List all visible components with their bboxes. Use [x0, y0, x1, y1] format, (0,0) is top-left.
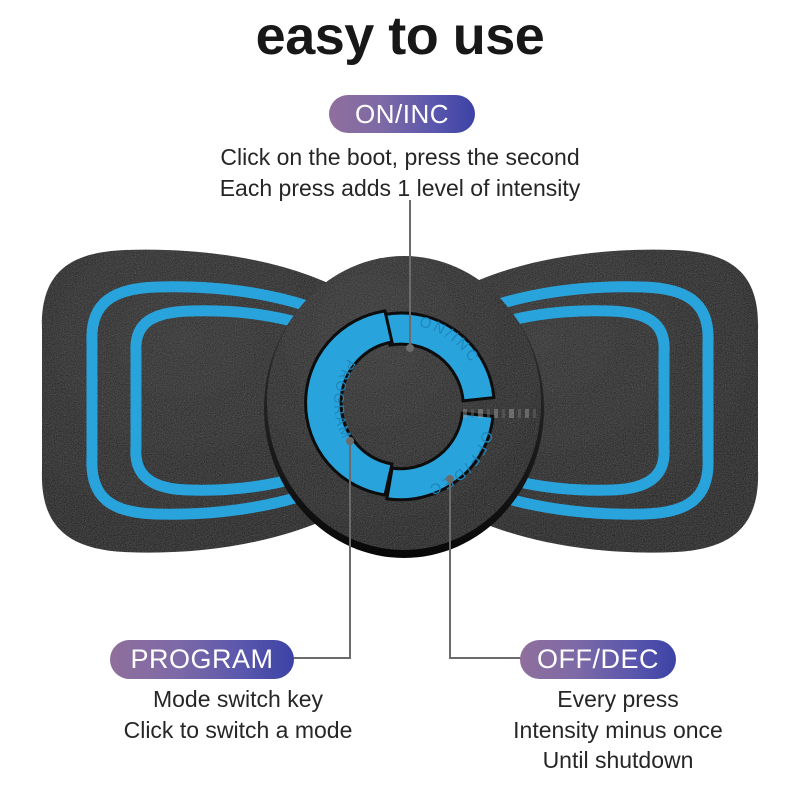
infographic-canvas: easy to use — [0, 0, 800, 800]
callout-description-offdec: Every press Intensity minus once Until s… — [488, 684, 748, 776]
callout-description-oninc: Click on the boot, press the second Each… — [180, 142, 620, 203]
callout-pill-oninc[interactable]: ON/INC — [329, 95, 475, 133]
callout-description-program: Mode switch key Click to switch a mode — [88, 684, 388, 745]
control-disc[interactable]: ON/INC PROGRAM OFF/DEC — [264, 256, 544, 558]
callout-pill-offdec[interactable]: OFF/DEC — [520, 640, 676, 679]
callout-pill-program[interactable]: PROGRAM — [110, 640, 294, 679]
